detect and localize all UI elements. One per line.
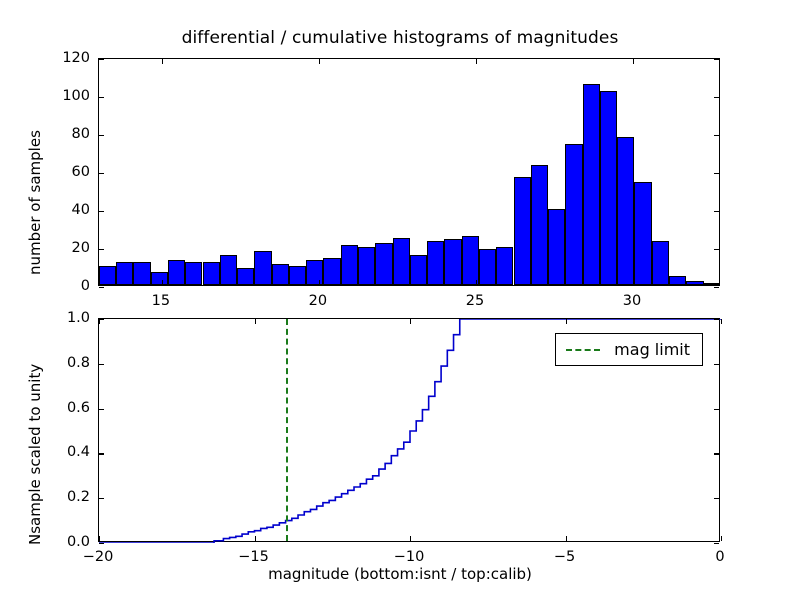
histogram-bar: [496, 247, 513, 285]
histogram-bar: [220, 255, 237, 285]
histogram-bar: [583, 84, 600, 285]
histogram-bar: [375, 243, 392, 285]
top-panel-ylabel: number of samples: [26, 130, 44, 275]
axis-tick: [566, 319, 567, 324]
histogram-bar: [652, 241, 669, 285]
axis-tick: [255, 319, 256, 324]
histogram-bar: [185, 262, 202, 285]
histogram-bar: [203, 262, 220, 285]
xtick-label: 20: [309, 293, 327, 309]
histogram-bar: [116, 262, 133, 285]
histogram-bar: [254, 251, 271, 285]
axis-tick: [714, 59, 719, 60]
chart-xlabel: magnitude (bottom:isnt / top:calib): [0, 565, 800, 583]
axis-tick: [721, 319, 722, 324]
axis-tick: [99, 536, 100, 541]
axis-tick: [714, 249, 719, 250]
axis-tick: [319, 280, 320, 285]
histogram-bars: [99, 59, 719, 285]
ytick-label: 100: [46, 88, 90, 104]
ytick-label: 80: [46, 126, 90, 142]
histogram-bar: [168, 260, 185, 285]
axis-tick: [99, 409, 104, 410]
mag-limit-legend-swatch: [566, 349, 600, 351]
histogram-bar: [427, 241, 444, 285]
histogram-bar: [600, 91, 617, 285]
axis-tick: [99, 498, 104, 499]
axis-tick: [566, 536, 567, 541]
axis-tick: [476, 59, 477, 64]
histogram-bar: [272, 264, 289, 285]
axis-tick: [99, 364, 104, 365]
xtick-label: 15: [152, 293, 170, 309]
histogram-bar: [634, 182, 651, 285]
bottom-panel-axes: mag limit: [98, 318, 720, 542]
axis-tick: [714, 97, 719, 98]
xtick-label: −10: [394, 549, 425, 565]
ytick-label: 20: [46, 240, 90, 256]
xtick-label: −15: [238, 549, 269, 565]
xtick-label: −5: [554, 549, 575, 565]
xtick-label: 30: [623, 293, 641, 309]
ytick-label: 0.2: [40, 489, 90, 505]
axis-tick: [99, 59, 104, 60]
chart-title: differential / cumulative histograms of …: [0, 28, 800, 48]
histogram-bar: [151, 272, 168, 285]
axis-tick: [99, 453, 104, 454]
ytick-label: 0.8: [40, 355, 90, 371]
histogram-bar: [323, 258, 340, 285]
axis-tick: [99, 287, 104, 288]
xtick-label: 25: [466, 293, 484, 309]
histogram-bar: [617, 137, 634, 285]
histogram-bar: [548, 209, 565, 285]
axis-tick: [714, 319, 719, 320]
axis-tick: [99, 319, 100, 324]
histogram-bar: [393, 238, 410, 286]
axis-tick: [633, 280, 634, 285]
axis-tick: [721, 536, 722, 541]
figure-canvas: differential / cumulative histograms of …: [0, 0, 800, 600]
histogram-bar: [237, 268, 254, 285]
axis-tick: [319, 59, 320, 64]
ytick-label: 1.0: [40, 310, 90, 326]
histogram-bar: [99, 266, 116, 285]
axis-tick: [476, 280, 477, 285]
axis-tick: [162, 280, 163, 285]
histogram-bar: [704, 283, 719, 285]
axis-tick: [99, 543, 104, 544]
axis-tick: [99, 211, 104, 212]
histogram-bar: [133, 262, 150, 285]
axis-tick: [714, 211, 719, 212]
xtick-label: 0: [715, 549, 724, 565]
histogram-bar: [669, 276, 686, 286]
axis-tick: [162, 59, 163, 64]
histogram-bar: [462, 236, 479, 285]
axis-tick: [714, 287, 719, 288]
axis-tick: [714, 173, 719, 174]
axis-tick: [714, 498, 719, 499]
histogram-bar: [686, 281, 703, 285]
top-panel-axes: [98, 58, 720, 286]
histogram-bar: [358, 247, 375, 285]
legend-label-mag-limit: mag limit: [614, 340, 690, 359]
histogram-bar: [289, 266, 306, 285]
histogram-bar: [410, 255, 427, 285]
histogram-bar: [306, 260, 323, 285]
legend-box: mag limit: [555, 333, 703, 366]
ytick-label: 0.0: [40, 534, 90, 550]
histogram-bar: [341, 245, 358, 285]
axis-tick: [714, 409, 719, 410]
axis-tick: [99, 97, 104, 98]
axis-tick: [714, 135, 719, 136]
ytick-label: 0.6: [40, 400, 90, 416]
axis-tick: [714, 543, 719, 544]
axis-tick: [99, 135, 104, 136]
axis-tick: [714, 364, 719, 365]
ytick-label: 40: [46, 202, 90, 218]
histogram-bar: [444, 239, 461, 285]
axis-tick: [99, 173, 104, 174]
histogram-bar: [514, 177, 531, 285]
ytick-label: 0.4: [40, 444, 90, 460]
ytick-label: 120: [46, 50, 90, 66]
mag-limit-line: [286, 319, 288, 541]
axis-tick: [410, 319, 411, 324]
axis-tick: [99, 249, 104, 250]
ytick-label: 0: [46, 278, 90, 294]
histogram-bar: [531, 165, 548, 285]
xtick-label: −20: [83, 549, 114, 565]
axis-tick: [410, 536, 411, 541]
axis-tick: [255, 536, 256, 541]
ytick-label: 60: [46, 164, 90, 180]
axis-tick: [714, 453, 719, 454]
axis-tick: [633, 59, 634, 64]
histogram-bar: [479, 249, 496, 285]
histogram-bar: [565, 144, 582, 285]
